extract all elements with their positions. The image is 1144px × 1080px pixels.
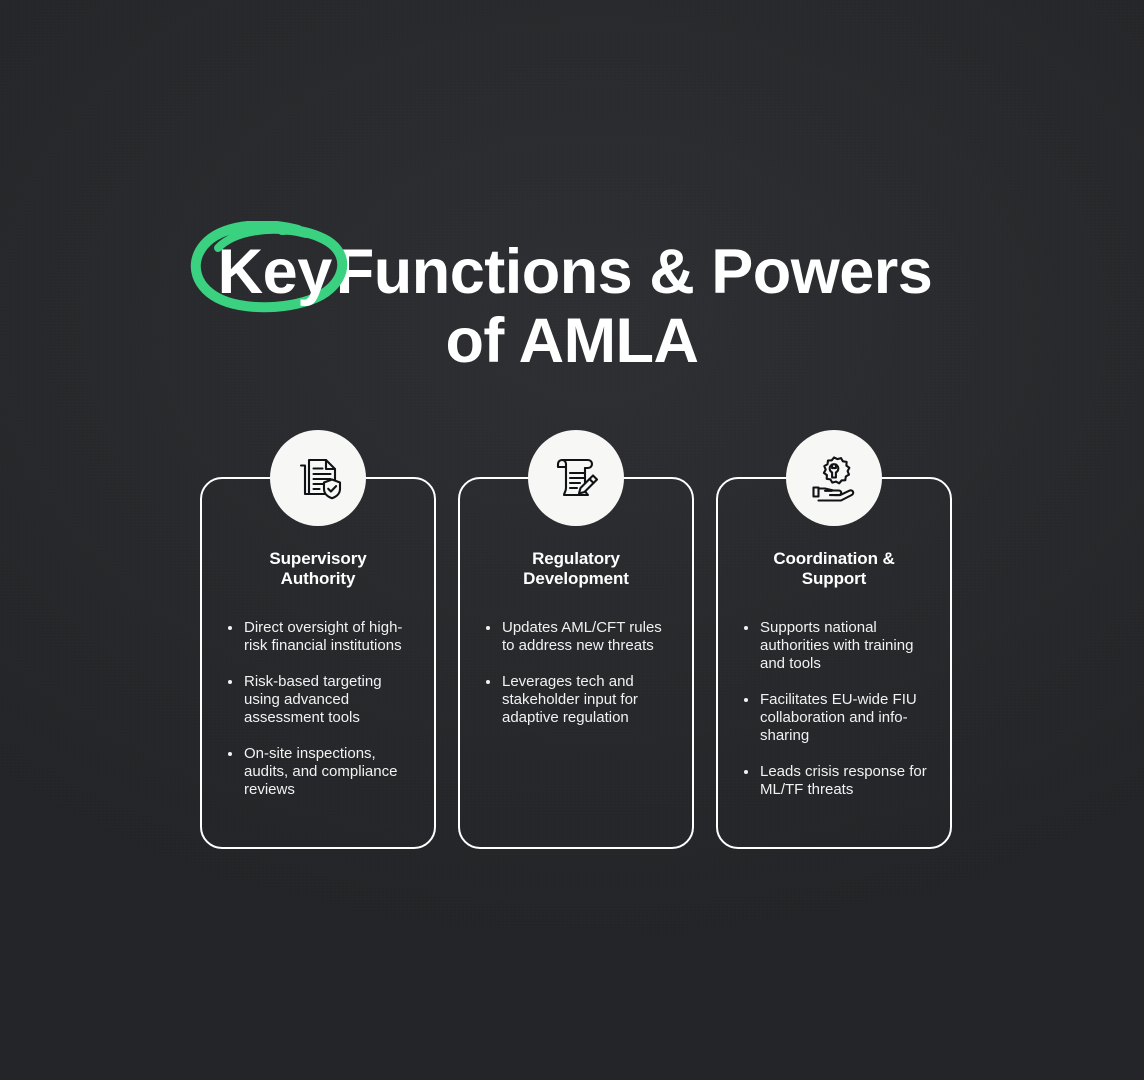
title-line-1: Key Functions & Powers xyxy=(0,238,1144,306)
cards-row: Supervisory Authority Direct oversight o… xyxy=(200,477,960,849)
card-bullet-list: Direct oversight of high-risk financial … xyxy=(224,619,412,799)
title-highlight-group: Key xyxy=(212,238,336,306)
scroll-pencil-icon xyxy=(528,430,624,526)
card-title-line-2: Authority xyxy=(281,569,356,588)
list-item: Facilitates EU-wide FIU collaboration an… xyxy=(740,691,928,745)
hand-gear-wrench-icon xyxy=(786,430,882,526)
card-title: Regulatory Development xyxy=(482,549,670,589)
list-item: On-site inspections, audits, and complia… xyxy=(224,745,412,799)
card-supervisory-authority[interactable]: Supervisory Authority Direct oversight o… xyxy=(200,477,436,849)
list-item: Leverages tech and stakeholder input for… xyxy=(482,673,670,727)
list-item: Supports national authorities with train… xyxy=(740,619,928,673)
card-title-line-2: Support xyxy=(802,569,866,588)
card-title-line-1: Supervisory xyxy=(269,549,366,568)
card-regulatory-development[interactable]: Regulatory Development Updates AML/CFT r… xyxy=(458,477,694,849)
page-title: Key Functions & Powers of AMLA xyxy=(0,238,1144,375)
title-highlight-word: Key xyxy=(218,237,332,307)
card-title-line-1: Regulatory xyxy=(532,549,620,568)
list-item: Updates AML/CFT rules to address new thr… xyxy=(482,619,670,655)
card-bullet-list: Updates AML/CFT rules to address new thr… xyxy=(482,619,670,727)
infographic-stage: Key Functions & Powers of AMLA xyxy=(0,0,1144,1080)
card-bullet-list: Supports national authorities with train… xyxy=(740,619,928,799)
list-item: Leads crisis response for ML/TF threats xyxy=(740,763,928,799)
card-title-line-1: Coordination & xyxy=(773,549,894,568)
card-title: Coordination & Support xyxy=(740,549,928,589)
list-item: Risk-based targeting using advanced asse… xyxy=(224,673,412,727)
title-line-2: of AMLA xyxy=(0,307,1144,375)
card-coordination-support[interactable]: Coordination & Support Supports national… xyxy=(716,477,952,849)
list-item: Direct oversight of high-risk financial … xyxy=(224,619,412,655)
title-rest: Functions & Powers xyxy=(336,237,933,307)
card-title-line-2: Development xyxy=(523,569,629,588)
card-title: Supervisory Authority xyxy=(224,549,412,589)
document-shield-check-icon xyxy=(270,430,366,526)
